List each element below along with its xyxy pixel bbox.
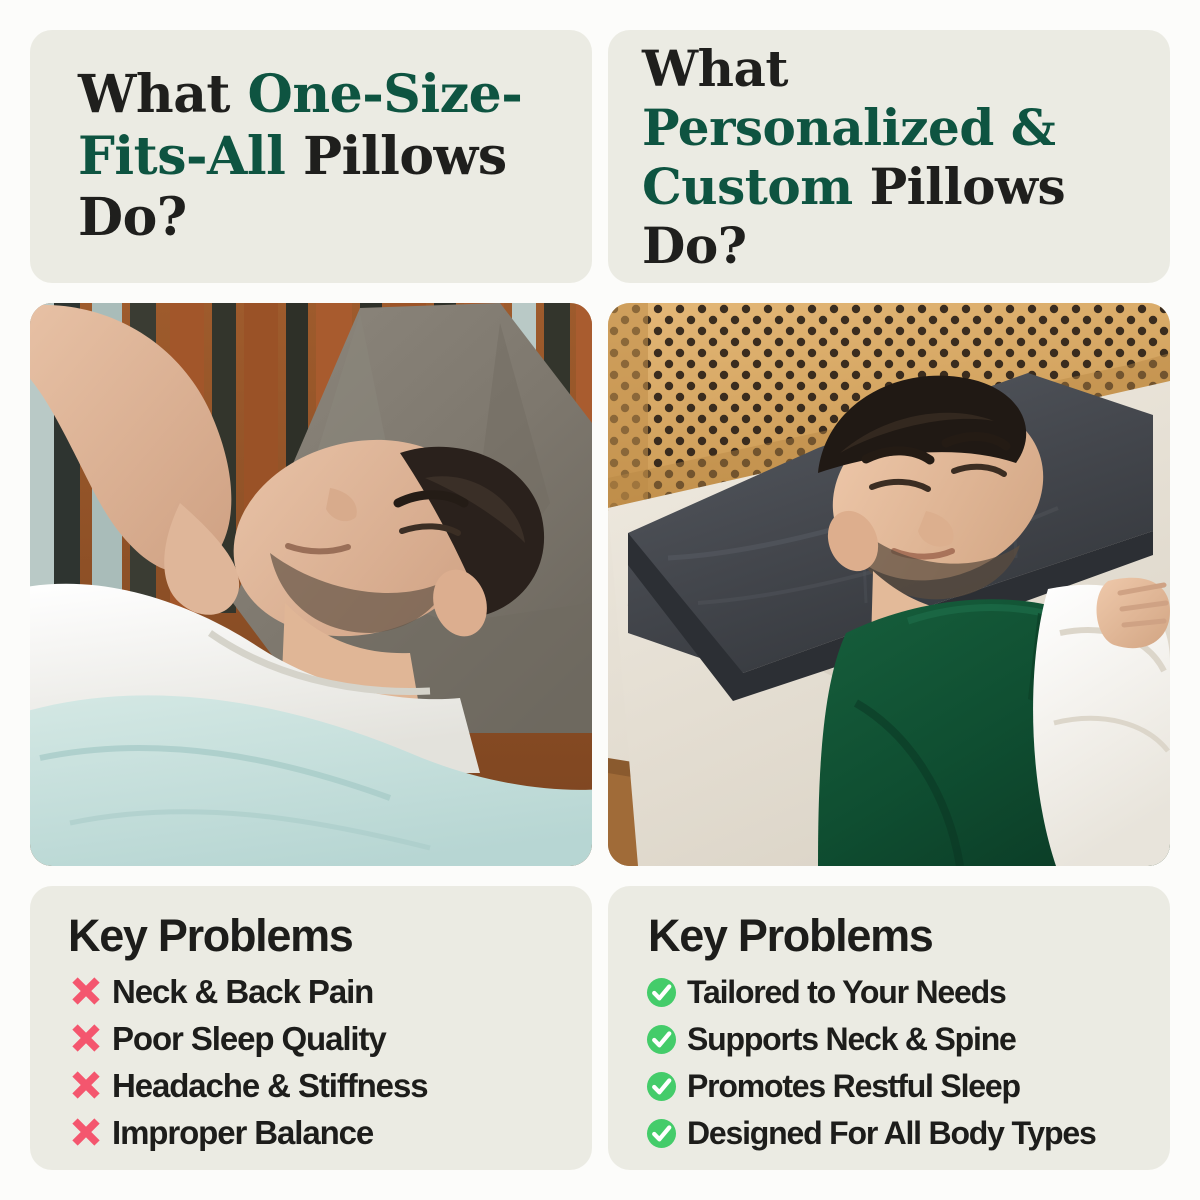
list-item-label: Tailored to Your Needs [687,974,1006,1011]
cross-icon [68,975,102,1009]
photo-uncomfortable-sleeper [30,303,592,866]
left-headline-pre: What [78,64,248,125]
list-item: Poor Sleep Quality [68,1018,558,1060]
list-item: Headache & Stiffness [68,1065,558,1107]
left-list-title: Key Problems [68,912,558,959]
check-circle-icon [646,1071,677,1102]
right-key-problems-card: Key Problems Tailored to Your Needs Supp… [608,886,1170,1170]
list-item: Promotes Restful Sleep [646,1065,1136,1107]
right-headline-pre: What [642,39,788,98]
list-item-label: Poor Sleep Quality [112,1020,386,1058]
list-item-label: Promotes Restful Sleep [687,1068,1020,1105]
comparison-board: What One-Size-Fits-All Pillows Do? What … [0,0,1200,1200]
left-problem-list: Neck & Back Pain Poor Sleep Quality Head… [68,971,558,1159]
list-item-label: Improper Balance [112,1114,373,1152]
list-item-label: Neck & Back Pain [112,973,373,1011]
check-circle-icon [646,1024,677,1055]
right-headline: What Personalized & Custom Pillows Do? [642,39,1136,275]
photo-comfortable-sleeper [608,303,1170,866]
list-item: Designed For All Body Types [646,1112,1136,1154]
list-item: Improper Balance [68,1112,558,1154]
left-headline: What One-Size-Fits-All Pillows Do? [78,64,544,248]
list-item: Supports Neck & Spine [646,1018,1136,1060]
check-circle-icon [646,1118,677,1149]
check-circle-icon [646,977,677,1008]
list-item: Tailored to Your Needs [646,971,1136,1013]
left-headline-card: What One-Size-Fits-All Pillows Do? [30,30,592,283]
cross-icon [68,1022,102,1056]
list-item-label: Designed For All Body Types [687,1115,1096,1152]
right-benefit-list: Tailored to Your Needs Supports Neck & S… [646,971,1136,1159]
list-item-label: Headache & Stiffness [112,1067,427,1105]
list-item: Neck & Back Pain [68,971,558,1013]
left-key-problems-card: Key Problems Neck & Back Pain Poor Sleep… [30,886,592,1170]
right-list-title: Key Problems [648,912,1136,959]
right-headline-card: What Personalized & Custom Pillows Do? [608,30,1170,283]
cross-icon [68,1069,102,1103]
cross-icon [68,1116,102,1150]
list-item-label: Supports Neck & Spine [687,1021,1016,1058]
